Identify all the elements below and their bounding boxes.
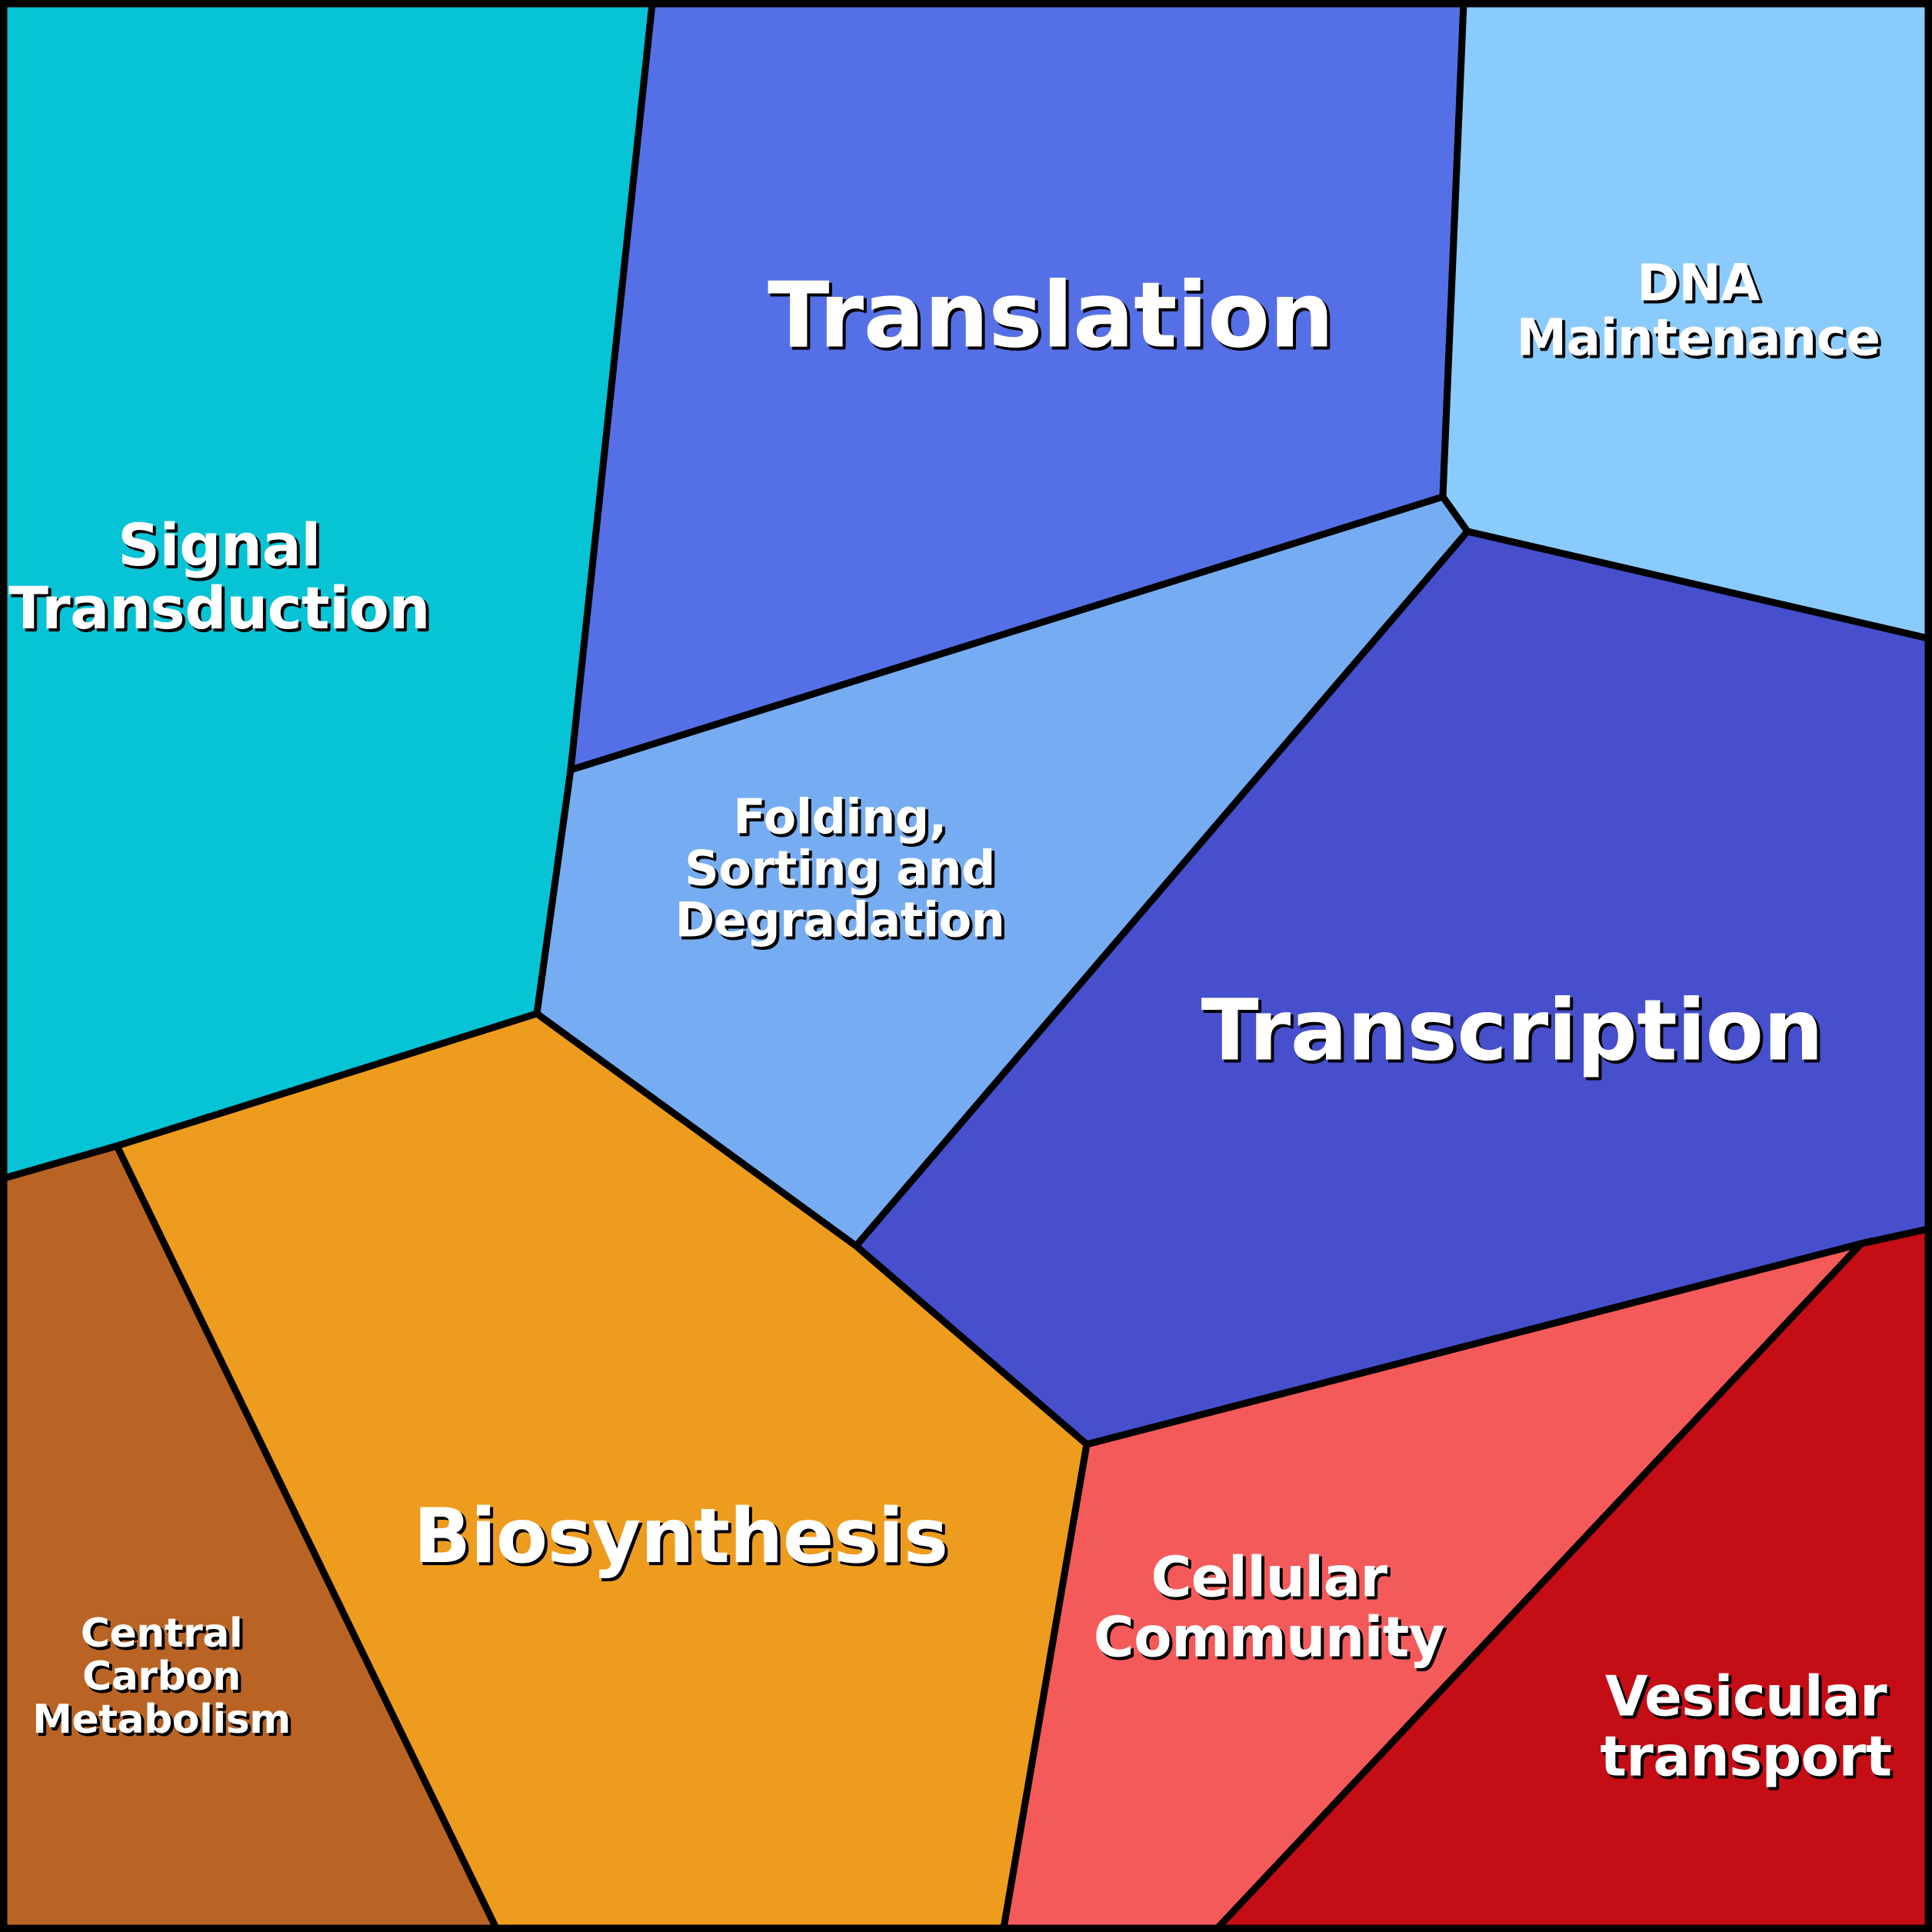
cell-group <box>4 4 1928 1928</box>
voronoi-svg <box>0 0 1932 1932</box>
voronoi-treemap-figure: Signal TransductionTranslationDNA Mainte… <box>0 0 1932 1932</box>
